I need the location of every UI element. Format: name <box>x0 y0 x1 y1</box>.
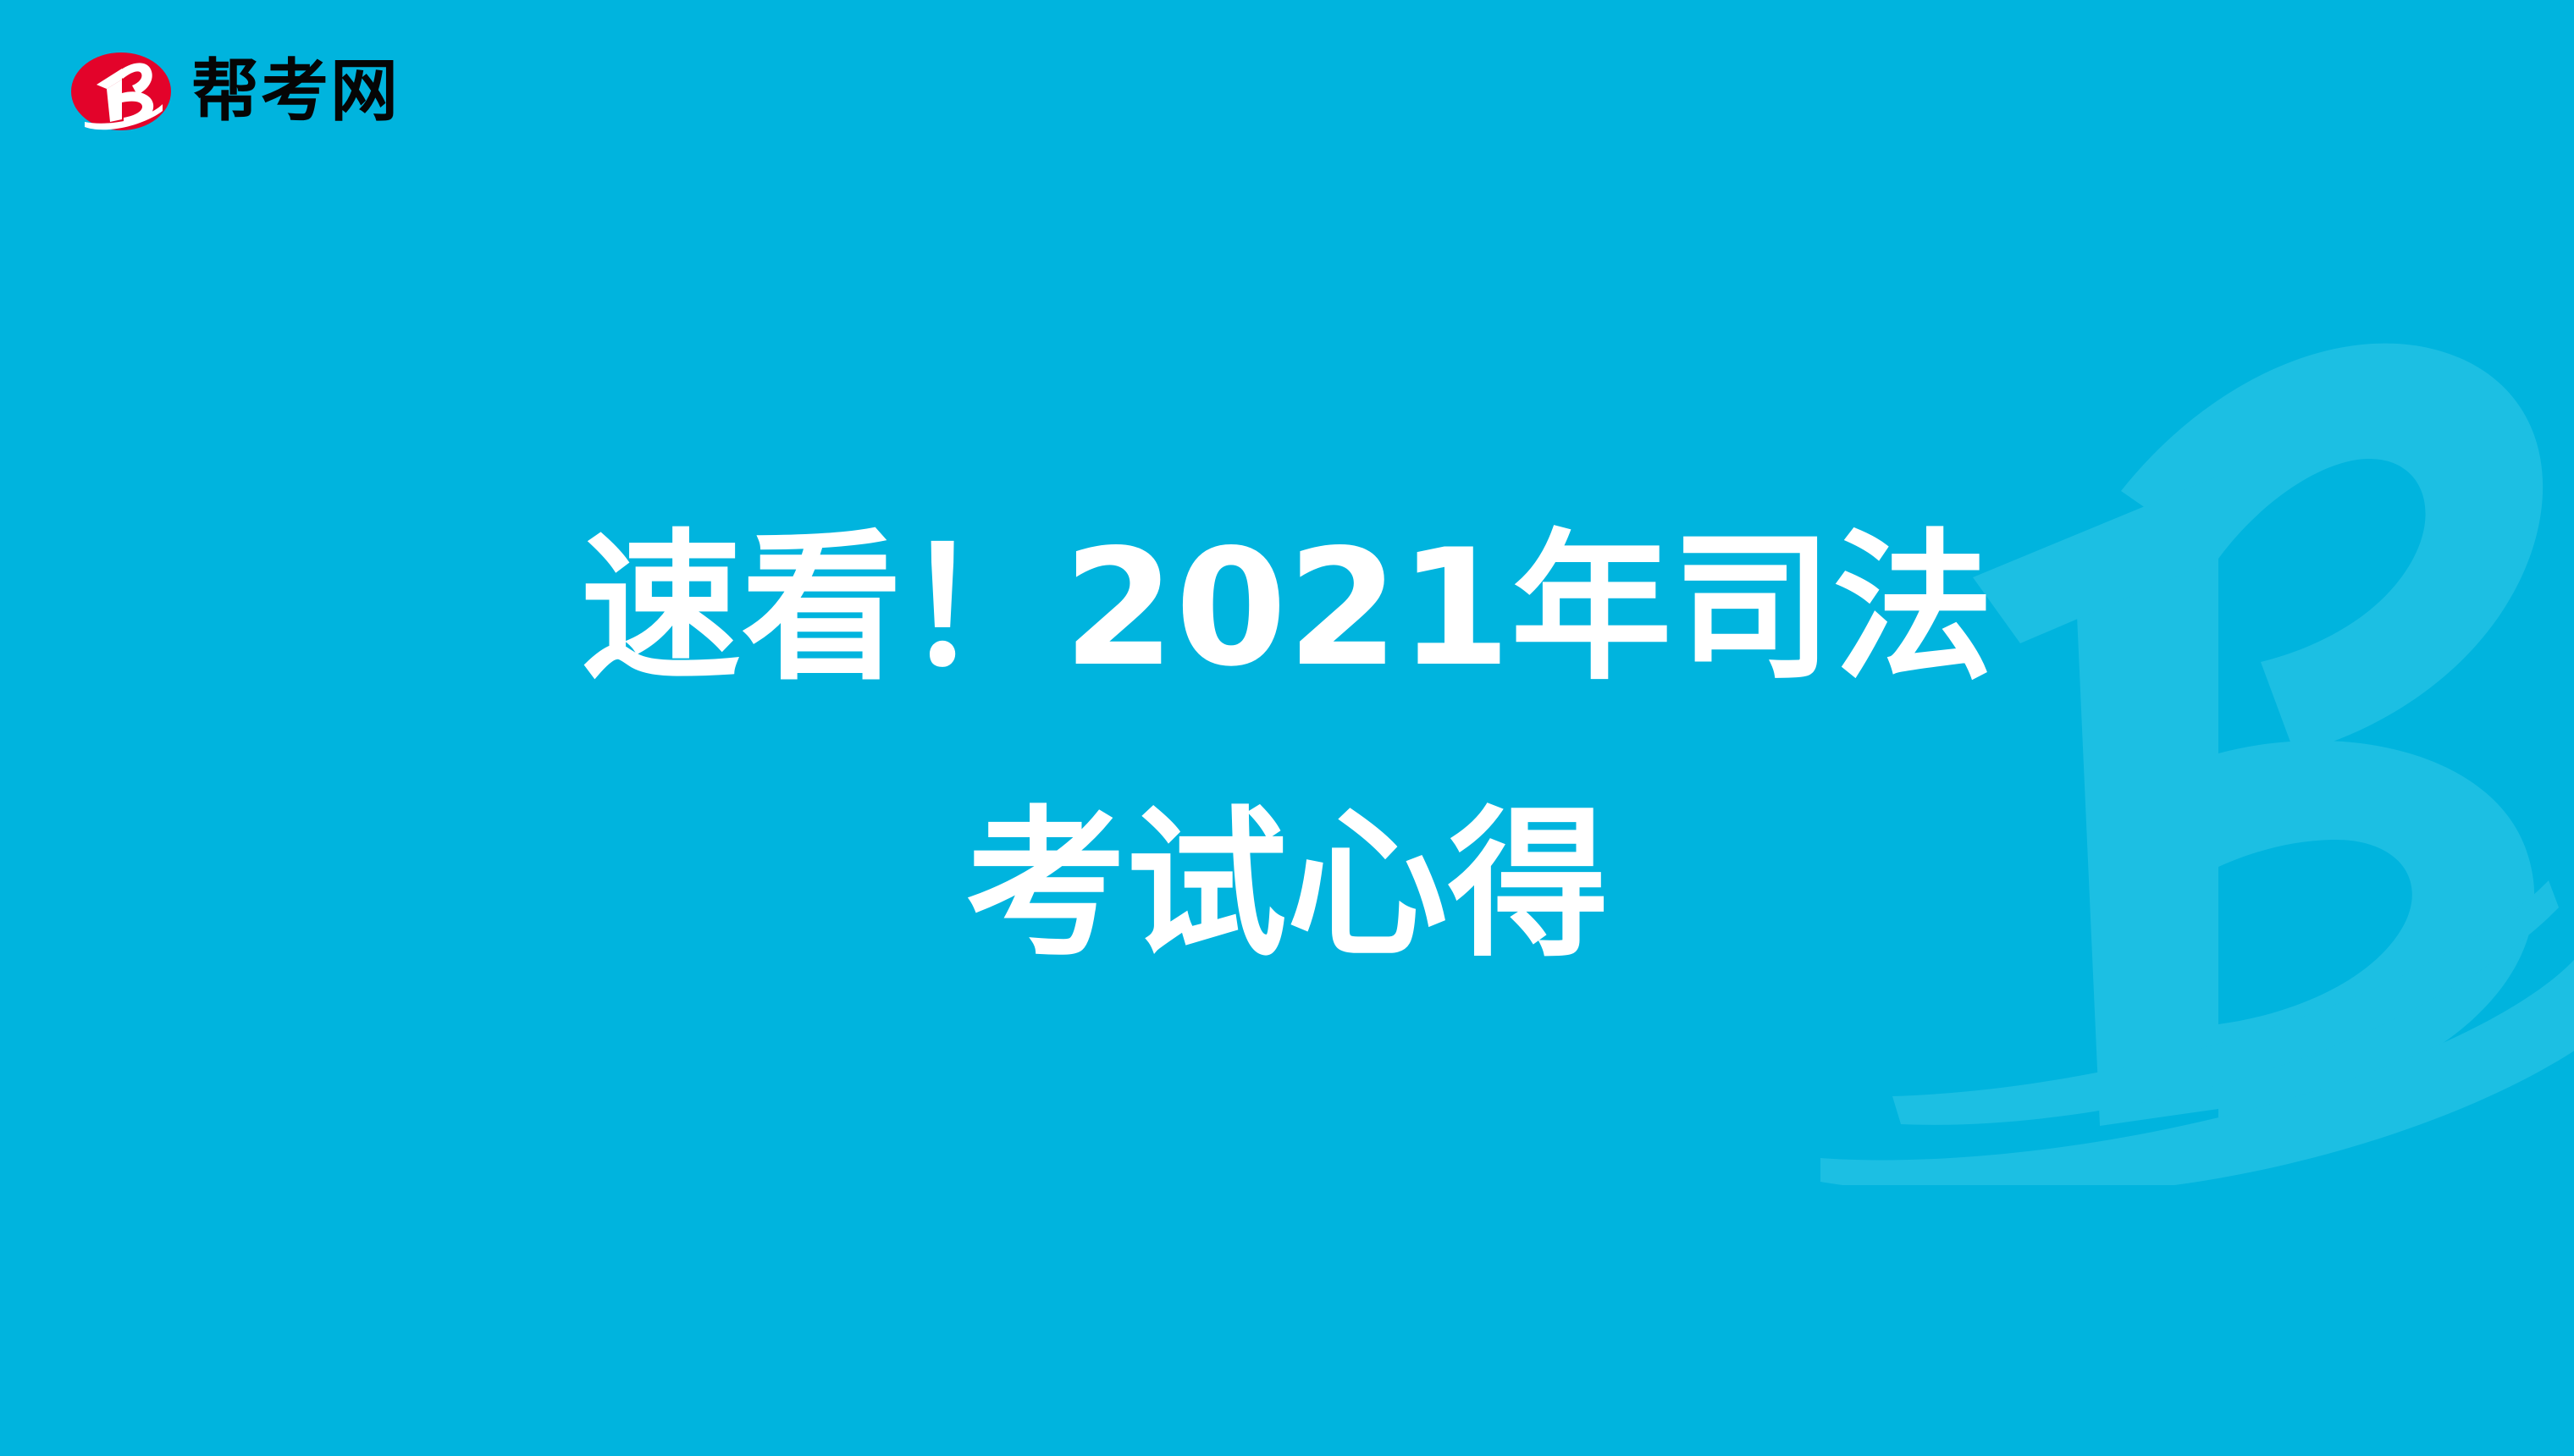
headline-line-1: 速看！2021年司法 <box>0 471 2574 747</box>
brand-name: 帮考网 <box>191 58 400 125</box>
brand-logo: 帮考网 <box>69 51 400 132</box>
headline-line-2: 考试心得 <box>0 747 2574 1024</box>
poster-canvas: 帮考网 速看！2021年司法 考试心得 <box>0 0 2574 1456</box>
bangkao-b-logo-icon <box>69 51 173 132</box>
headline-block: 速看！2021年司法 考试心得 <box>0 471 2574 1024</box>
